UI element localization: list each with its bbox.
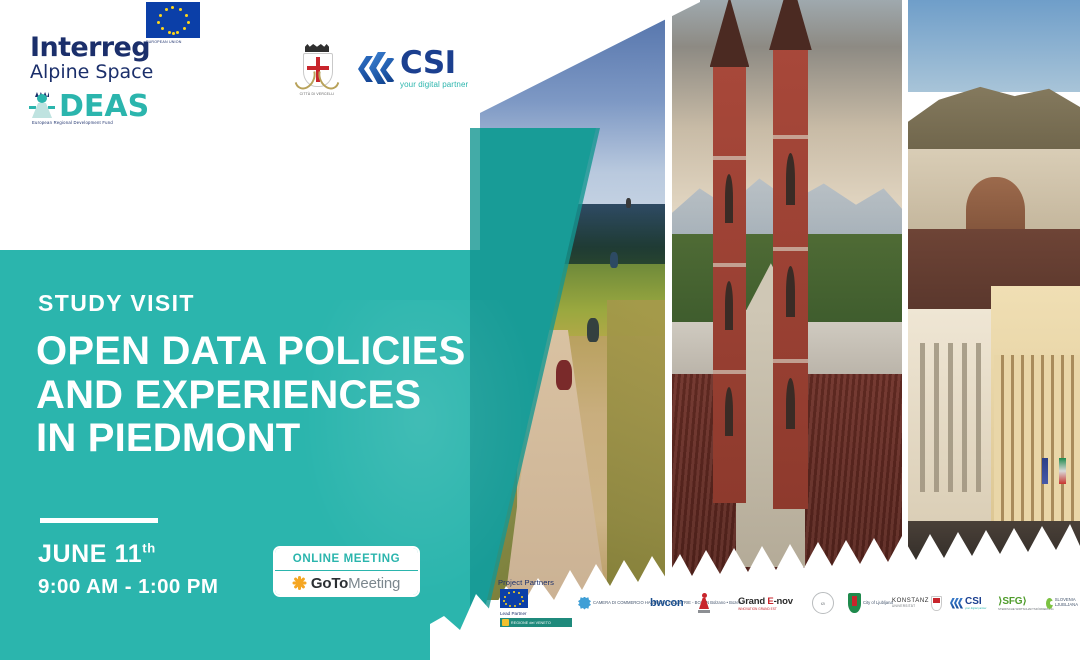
logo-citta-di-vercelli: CITTÀ DI VERCELLI (289, 44, 345, 100)
logo-csi-piemonte: CSI your digital partner (358, 50, 468, 89)
photo-turin-cityscape (908, 0, 1080, 572)
title-line-1: OPEN DATA POLICIES (36, 330, 466, 374)
event-date-suffix: th (142, 541, 155, 556)
vercelli-caption: CITTÀ DI VERCELLI (289, 92, 345, 96)
title-line-3: IN PIEDMONT (36, 417, 466, 461)
logo-interreg-alpine-space: Interreg Alpine Space (30, 34, 153, 84)
photo1-cyclist-near (556, 360, 572, 390)
lead-partner-label: Lead Partner (500, 611, 527, 616)
figure-icon (698, 593, 710, 613)
csi-chevron-icon (358, 50, 396, 88)
event-date: JUNE 11th (38, 540, 218, 569)
logo-city-of-ljubljana: City of Ljubljana (848, 592, 893, 614)
photo3-flag-italy (1059, 458, 1066, 484)
photo1-cyclist-far (610, 252, 618, 268)
online-meeting-badge[interactable]: ONLINE MEETING GoToMeeting (273, 546, 420, 597)
interreg-wordmark: Interreg (30, 34, 153, 61)
deas-figure-icon (30, 94, 54, 120)
poster-canvas: Interreg Alpine Space EUROPEAN UNION DEA… (0, 0, 1080, 660)
bwcon-wordmark: bwcon (650, 597, 683, 609)
project-partners-strip: Project Partners Lead Partner REGIONE de… (498, 578, 1080, 638)
csi-wordmark: CSI (400, 50, 468, 78)
konstanz-subtitle: UNIVERSITÄT (892, 604, 929, 608)
eu-flag-caption: EUROPEAN UNION (146, 40, 204, 44)
eu-flag-icon (146, 2, 200, 38)
project-tagline: To stimulate participation, competitiven… (36, 236, 410, 246)
gotomeeting-flower-icon (293, 576, 307, 590)
online-meeting-label: ONLINE MEETING (275, 548, 418, 570)
logo-grand-enov: Grand E-nov INNOVATION GRAND EST (738, 592, 793, 614)
gotomeeting-wordmark: GoToMeeting (311, 575, 400, 592)
logo-csi-partners: CSI your digital partner (950, 592, 986, 614)
divider (40, 518, 158, 523)
grandenov-wordmark: Grand E-nov (738, 596, 793, 607)
logo-green-partner: SLOVENIA LJUBLJANA (1046, 592, 1080, 614)
deas-wordmark: DEAS (59, 92, 149, 122)
green-partner-name: SLOVENIA LJUBLJANA (1055, 598, 1080, 608)
gotomeeting-meeting: Meeting (348, 575, 400, 592)
veneto-lion-icon (502, 619, 509, 626)
csi-tagline: your digital partner (400, 80, 468, 89)
green-sun-icon (1046, 598, 1053, 609)
circle-label: t2i (821, 601, 825, 606)
photo2-bell-tower-right (773, 41, 808, 509)
logo-circular-partner: t2i (812, 592, 834, 614)
erdf-caption: European Regional Development Fund (32, 120, 113, 125)
circle-icon: t2i (812, 592, 834, 614)
logo-regione-del-veneto: REGIONE del VENETO (500, 618, 572, 627)
photo1-cyclist-mid (587, 318, 599, 342)
csi-tagline-small: your digital partner (965, 607, 986, 610)
csi-wordmark-small: CSI (965, 596, 986, 607)
eu-flag-icon-partners (500, 589, 528, 608)
gear-icon (578, 597, 591, 610)
logo-bwcon: bwcon (650, 592, 683, 614)
title-line-2: AND EXPERIENCES (36, 374, 466, 418)
event-kicker: STUDY VISIT (38, 290, 195, 317)
logo-konstanz: KONSTANZ UNIVERSITÄT (892, 592, 942, 614)
photo3-flag-eu (1042, 458, 1048, 484)
veneto-name: REGIONE del VENETO (511, 621, 551, 625)
page-title: OPEN DATA POLICIES AND EXPERIENCES IN PI… (36, 330, 466, 461)
grandenov-subtitle: INNOVATION GRAND EST (738, 607, 793, 611)
interreg-programme-name: Alpine Space (30, 62, 153, 84)
photo3-colonnade (994, 355, 1080, 527)
event-date-text: JUNE 11 (38, 540, 142, 568)
gotomeeting-goto: GoTo (311, 575, 348, 592)
project-name: DEAS - Data Economy Alps Strategy (36, 203, 410, 229)
konstanz-shield-icon (931, 596, 942, 611)
photo-basilica-sant-andrea-vercelli (672, 0, 902, 585)
csi-chevron-icon-small (950, 597, 963, 610)
ljubljana-name: City of Ljubljana (863, 601, 893, 606)
photo3-windows (911, 343, 987, 492)
event-datetime: JUNE 11th 9:00 AM - 1:00 PM (38, 540, 218, 599)
ljubljana-shield-icon (848, 593, 861, 613)
photo3-sky (908, 0, 1080, 92)
photo1-cyclist-farthest (626, 198, 631, 208)
event-time: 9:00 AM - 1:00 PM (38, 575, 218, 599)
photo2-bell-tower-left (713, 59, 745, 504)
gotomeeting-logo[interactable]: GoToMeeting (275, 570, 418, 595)
project-strapline: DEAS - Data Economy Alps Strategy To sti… (36, 203, 410, 246)
sfg-text: SFG (1002, 596, 1022, 607)
logo-red-figure-partner (698, 592, 710, 614)
project-partners-title: Project Partners (498, 578, 1080, 587)
logo-deas: DEAS (30, 92, 149, 122)
crown-icon (305, 44, 329, 52)
